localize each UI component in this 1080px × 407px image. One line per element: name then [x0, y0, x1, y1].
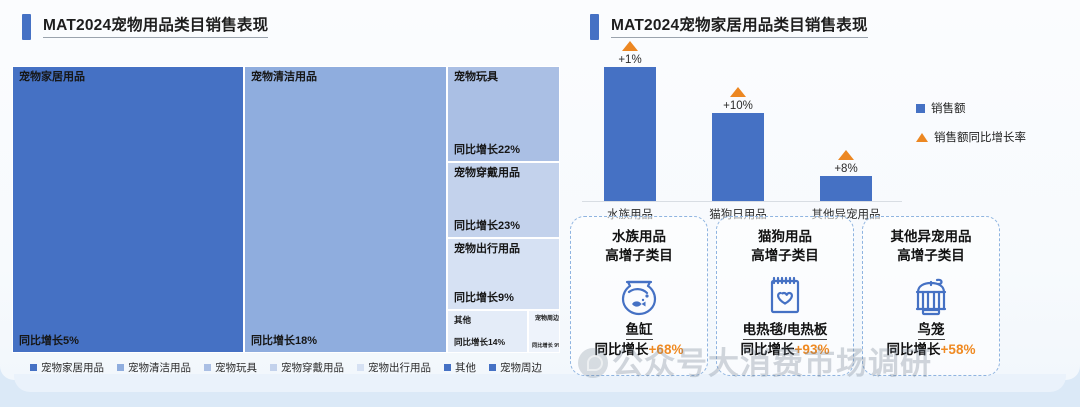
treemap-cell-growth: 同比增长23% [454, 217, 520, 233]
bar-chart-panel: +1%水族用品+10%猫狗日用品+8%其他异宠用品 销售额销售额同比增长率 水族… [568, 48, 1068, 378]
card-growth-value: +68% [649, 342, 684, 357]
treemap-cell-growth: 同比增长9% [454, 289, 514, 305]
treemap-cell-label: 其他 [454, 315, 521, 325]
treemap-cell-growth: 同比增长5% [19, 332, 79, 348]
treemap-cell-label: 宠物玩具 [454, 71, 553, 84]
highlight-cards: 水族用品高增子类目鱼缸同比增长+68%猫狗用品高增子类目电热毯/电热板同比增长+… [570, 216, 1000, 376]
right-panel-title: MAT2024宠物家居用品类目销售表现 [611, 16, 868, 38]
card-subcategory: 鸟笼 [918, 320, 945, 340]
highlight-card[interactable]: 其他异宠用品高增子类目鸟笼同比增长+58% [862, 216, 1000, 376]
card-title-line2: 高增子类目 [897, 246, 965, 265]
card-growth: 同比增长+93% [717, 340, 853, 359]
treemap-cell[interactable]: 其他同比增长14% [447, 310, 528, 353]
card-growth-label: 同比增长 [887, 342, 941, 357]
treemap-chart: 宠物家居用品同比增长5%宠物清洁用品同比增长18%宠物玩具同比增长22%宠物穿戴… [12, 66, 560, 353]
slide-canvas: MAT2024宠物用品类目销售表现 MAT2024宠物家居用品类目销售表现 宠物… [0, 0, 1080, 407]
card-growth-value: +93% [795, 342, 830, 357]
legend-item[interactable]: 宠物出行用品 [357, 360, 431, 375]
legend-label: 宠物出行用品 [368, 360, 431, 375]
treemap-cell-label: 宠物清洁用品 [251, 71, 440, 84]
card-title-line2: 高增子类目 [751, 246, 819, 265]
treemap-cell[interactable]: 宠物家居用品同比增长5% [12, 66, 244, 353]
card-footer: 电热毯/电热板同比增长+93% [717, 320, 853, 359]
card-title-line2: 高增子类目 [605, 246, 673, 265]
chart-legend-item[interactable]: 销售额同比增长率 [916, 129, 1026, 145]
treemap-cell-label: 宠物家居用品 [19, 71, 237, 84]
growth-triangle-icon [838, 150, 854, 160]
highlight-card[interactable]: 猫狗用品高增子类目电热毯/电热板同比增长+93% [716, 216, 854, 376]
card-title-line1: 其他异宠用品 [891, 227, 972, 246]
highlight-card[interactable]: 水族用品高增子类目鱼缸同比增长+68% [570, 216, 708, 376]
treemap-cell-label: 宠物周边 [535, 315, 553, 323]
treemap-cell[interactable]: 宠物出行用品同比增长9% [447, 238, 560, 310]
card-footer: 鸟笼同比增长+58% [863, 320, 999, 359]
bar[interactable] [820, 176, 872, 201]
legend-swatch-icon [270, 364, 277, 371]
card-growth-value: +58% [941, 342, 976, 357]
chart-legend-label: 销售额 [931, 100, 966, 116]
x-axis-line [582, 201, 902, 202]
legend-item[interactable]: 宠物玩具 [204, 360, 257, 375]
right-panel-header: MAT2024宠物家居用品类目销售表现 [590, 14, 868, 40]
card-growth: 同比增长+68% [571, 340, 707, 359]
pet-blanket-icon [765, 274, 805, 323]
left-panel-title: MAT2024宠物用品类目销售表现 [43, 16, 268, 38]
treemap-cell-growth: 同比增长22% [454, 141, 520, 157]
card-growth: 同比增长+58% [863, 340, 999, 359]
fishbowl-icon [616, 274, 662, 321]
treemap-cell-growth: 同比增长18% [251, 332, 317, 348]
chart-legend: 销售额销售额同比增长率 [916, 100, 1026, 158]
legend-item[interactable]: 宠物清洁用品 [117, 360, 191, 375]
treemap-cell[interactable]: 宠物周边同比增长 9% [528, 310, 560, 353]
chart-legend-label: 销售额同比增长率 [934, 129, 1026, 145]
legend-item[interactable]: 宠物周边 [489, 360, 542, 375]
left-panel-header: MAT2024宠物用品类目销售表现 [22, 14, 268, 40]
legend-label: 宠物穿戴用品 [281, 360, 344, 375]
birdcage-icon [909, 274, 953, 325]
legend-swatch-icon [204, 364, 211, 371]
treemap-legend: 宠物家居用品宠物清洁用品宠物玩具宠物穿戴用品宠物出行用品其他宠物周边 [12, 360, 560, 375]
legend-label: 宠物玩具 [215, 360, 257, 375]
bar-growth-label: +10% [703, 100, 773, 112]
bar-plot-area: +1%水族用品+10%猫狗日用品+8%其他异宠用品 [582, 52, 902, 202]
card-title-line1: 水族用品 [612, 227, 666, 246]
legend-swatch-icon [489, 364, 496, 371]
card-growth-label: 同比增长 [741, 342, 795, 357]
legend-label: 宠物清洁用品 [128, 360, 191, 375]
legend-item[interactable]: 宠物穿戴用品 [270, 360, 344, 375]
legend-triangle-icon [916, 133, 928, 142]
bar-growth-label: +8% [811, 163, 881, 175]
legend-swatch-icon [30, 364, 37, 371]
treemap-cell-label: 宠物出行用品 [454, 243, 553, 256]
legend-item[interactable]: 其他 [444, 360, 476, 375]
header-accent-bar [590, 14, 599, 40]
card-title-line1: 猫狗用品 [758, 227, 812, 246]
legend-swatch-icon [444, 364, 451, 371]
bar[interactable] [712, 113, 764, 201]
legend-label: 其他 [455, 360, 476, 375]
legend-label: 宠物家居用品 [41, 360, 104, 375]
treemap-cell-growth: 同比增长14% [454, 336, 505, 348]
bar-growth-label: +1% [595, 54, 665, 66]
treemap-cell-growth: 同比增长 9% [532, 343, 556, 349]
bar-chart: +1%水族用品+10%猫狗日用品+8%其他异宠用品 销售额销售额同比增长率 [568, 48, 1068, 208]
card-subcategory: 鱼缸 [626, 320, 653, 340]
treemap-cell[interactable]: 宠物玩具同比增长22% [447, 66, 560, 162]
card-subcategory: 电热毯/电热板 [743, 320, 828, 340]
header-accent-bar [22, 14, 31, 40]
legend-item[interactable]: 宠物家居用品 [30, 360, 104, 375]
treemap-cell[interactable]: 宠物穿戴用品同比增长23% [447, 162, 560, 238]
bar[interactable] [604, 67, 656, 201]
growth-triangle-icon [730, 87, 746, 97]
legend-swatch-icon [357, 364, 364, 371]
legend-square-icon [916, 104, 925, 113]
legend-label: 宠物周边 [500, 360, 542, 375]
legend-swatch-icon [117, 364, 124, 371]
treemap-panel: 宠物家居用品同比增长5%宠物清洁用品同比增长18%宠物玩具同比增长22%宠物穿戴… [12, 60, 560, 375]
treemap-cell-label: 宠物穿戴用品 [454, 167, 553, 180]
card-growth-label: 同比增长 [595, 342, 649, 357]
treemap-cell[interactable]: 宠物清洁用品同比增长18% [244, 66, 447, 353]
chart-legend-item[interactable]: 销售额 [916, 100, 1026, 116]
card-footer: 鱼缸同比增长+68% [571, 320, 707, 359]
growth-triangle-icon [622, 41, 638, 51]
